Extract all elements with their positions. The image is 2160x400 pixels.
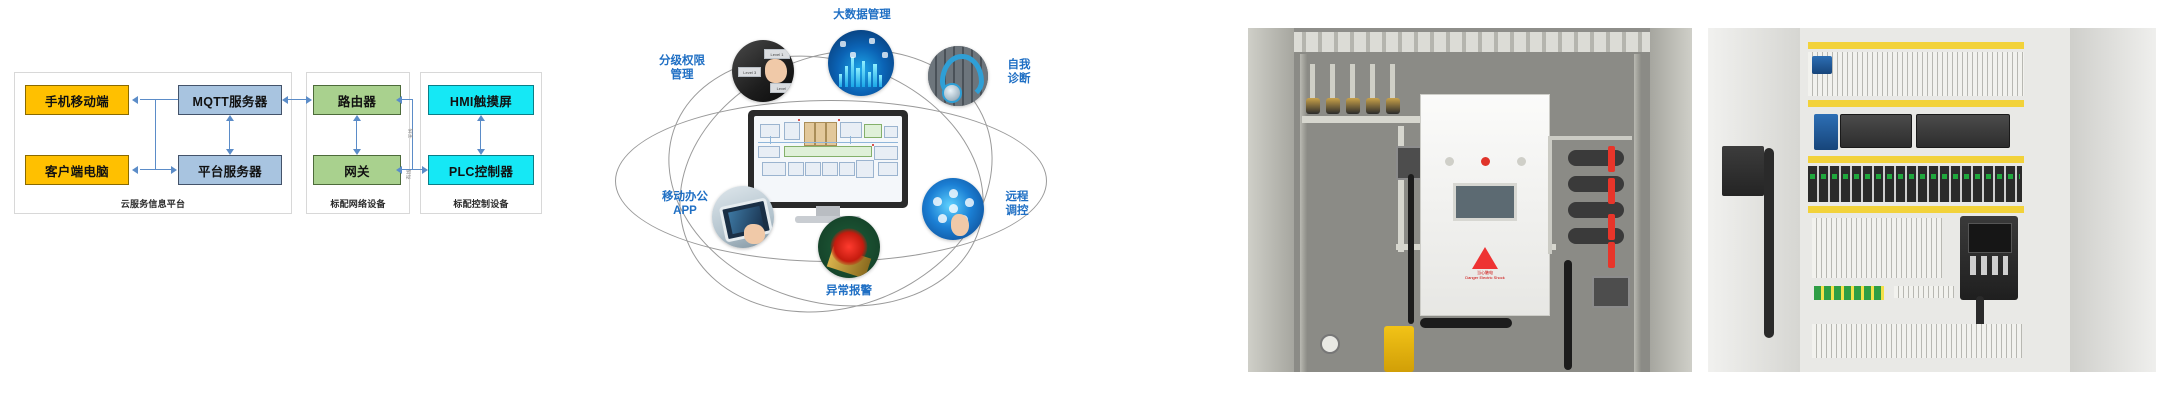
arrow-pc-in bbox=[132, 166, 138, 174]
wire-duct-top bbox=[1808, 42, 2024, 49]
arrow-gateway-side-in bbox=[396, 166, 402, 174]
wire-duct-4 bbox=[1808, 206, 2024, 213]
node-client-pc[interactable]: 客户端电脑 bbox=[25, 155, 129, 185]
stethoscope-diaphragm bbox=[942, 83, 962, 103]
node-mobile-terminal[interactable]: 手机移动端 bbox=[25, 85, 129, 115]
link-router-gateway bbox=[356, 120, 357, 150]
manifold-valves bbox=[1306, 64, 1416, 120]
pipe-elbow-1 bbox=[1568, 150, 1624, 166]
vertical-pipe bbox=[1398, 126, 1404, 252]
label-wired-link: 有线 bbox=[406, 169, 413, 179]
arrow-platform-down bbox=[226, 149, 234, 155]
cabinet2-door-left bbox=[1708, 28, 1800, 372]
alarm-beacon-icon[interactable] bbox=[818, 216, 880, 278]
label-mobile-office: 移动办公 APP bbox=[648, 190, 722, 219]
indicator-white-left bbox=[1445, 157, 1454, 166]
arrow-router-side-in bbox=[396, 96, 402, 104]
node-platform-server[interactable]: 平台服务器 bbox=[178, 155, 282, 185]
link-bus-to-platform bbox=[155, 169, 171, 170]
cabinet-top-louver bbox=[1290, 32, 1650, 54]
arrow-router-up bbox=[353, 115, 361, 121]
valve-handle-3[interactable] bbox=[1608, 214, 1615, 240]
bigdata-bars bbox=[837, 52, 885, 86]
plc-power-supply bbox=[1814, 114, 1838, 150]
arrow-platform-in bbox=[171, 166, 177, 174]
group-caption-control: 标配控制设备 bbox=[421, 197, 541, 210]
valve-handle-1[interactable] bbox=[1608, 146, 1615, 172]
arrow-plc-in bbox=[422, 166, 428, 174]
arrow-plc-down bbox=[477, 149, 485, 155]
label-bigdata: 大数据管理 bbox=[800, 8, 924, 22]
monitor-bezel bbox=[748, 110, 908, 208]
frame-top bbox=[1548, 136, 1632, 140]
link-bus-to-pc bbox=[140, 169, 156, 170]
photo-equipment-cabinet: 当心触电 Danger Electric Shock bbox=[1248, 28, 1692, 372]
sensor-transmitter bbox=[1592, 276, 1630, 308]
pressure-gauge bbox=[1320, 334, 1340, 354]
label-remote-control: 远程 调控 bbox=[990, 190, 1044, 219]
valve-handle-4[interactable] bbox=[1608, 242, 1615, 268]
terminal-block-row-3 bbox=[1812, 324, 2022, 358]
arrow-mqtt-in bbox=[282, 96, 288, 104]
link-mqtt-to-mobile bbox=[140, 99, 178, 100]
platform-capabilities-infographic: 大数据管理 自我 诊断 远程 调控 异常报警 bbox=[560, 0, 1180, 400]
arrow-router-in bbox=[306, 96, 312, 104]
meter-cable bbox=[1408, 174, 1414, 324]
relay-status-leds bbox=[1810, 174, 2020, 179]
wire-duct-3 bbox=[1808, 156, 2024, 163]
node-plc-controller[interactable]: PLC控制器 bbox=[428, 155, 534, 185]
group-caption-cloud: 云服务信息平台 bbox=[15, 197, 291, 210]
link-hmi-plc bbox=[480, 120, 481, 150]
cabinet-door-right bbox=[1650, 28, 1692, 372]
manifold-header-pipe bbox=[1302, 116, 1422, 123]
plc-io-module bbox=[1916, 114, 2010, 148]
monitor-screen bbox=[754, 116, 902, 202]
arrow-mobile-in bbox=[132, 96, 138, 104]
stethoscope-keyboard-icon[interactable] bbox=[928, 46, 988, 106]
vfd-display bbox=[1968, 223, 2012, 254]
vfd-keypad[interactable] bbox=[1970, 256, 2007, 274]
photo-control-cabinet bbox=[1708, 28, 2156, 372]
electric-shock-warning-icon bbox=[1472, 247, 1498, 269]
node-gateway[interactable]: 网关 bbox=[313, 155, 401, 185]
power-cable bbox=[1420, 318, 1512, 328]
level-3-chip: Level 3 bbox=[738, 67, 761, 77]
yellow-container bbox=[1384, 326, 1414, 372]
network-architecture-diagram: 云服务信息平台 标配网络设备 标配控制设备 手机移动端 客户端电脑 MQTT服务… bbox=[14, 72, 542, 214]
label-permission-management: 分级权限 管理 bbox=[638, 54, 726, 83]
arrow-hmi-up bbox=[477, 115, 485, 121]
label-alarm: 异常报警 bbox=[794, 284, 904, 298]
cabinet2-door-right bbox=[2070, 28, 2156, 372]
level-1-chip: Level 1 bbox=[764, 49, 790, 60]
door-wire-loom bbox=[1764, 148, 1774, 338]
node-router[interactable]: 路由器 bbox=[313, 85, 401, 115]
pipe-elbow-2 bbox=[1568, 176, 1624, 192]
network-touch-icon[interactable] bbox=[922, 178, 984, 240]
node-hmi-touch-panel[interactable]: HMI触摸屏 bbox=[428, 85, 534, 115]
pipe-elbow-4 bbox=[1568, 228, 1624, 244]
pointing-hand bbox=[951, 214, 970, 236]
pipe-elbow-3 bbox=[1568, 202, 1624, 218]
label-self-diagnosis: 自我 诊断 bbox=[992, 58, 1046, 87]
warning-sublabel: Danger Electric Shock bbox=[1465, 275, 1505, 280]
door-mounted-drive bbox=[1722, 146, 1764, 196]
plc-cpu-module bbox=[1840, 114, 1912, 148]
wire-duct-2 bbox=[1808, 100, 2024, 107]
terminal-block-row-1 bbox=[1808, 52, 2024, 96]
vfd-inverter[interactable] bbox=[1960, 216, 2018, 300]
breaker-block bbox=[1812, 56, 1832, 74]
relay-row bbox=[1808, 166, 2022, 202]
link-bus-vertical bbox=[155, 99, 156, 170]
arrow-mqtt-up bbox=[226, 115, 234, 121]
terminal-strip-small bbox=[1894, 286, 1954, 298]
drain-pipe bbox=[1564, 260, 1572, 370]
label-wireless-link: 无线 bbox=[408, 128, 415, 138]
tablet-hand bbox=[744, 224, 765, 244]
warning-text: 当心触电 Danger Electric Shock bbox=[1465, 271, 1505, 281]
terminal-block-row-2 bbox=[1812, 218, 1942, 278]
indicator-white-right bbox=[1517, 157, 1526, 166]
node-mqtt-server[interactable]: MQTT服务器 bbox=[178, 85, 282, 115]
panel-display bbox=[1453, 183, 1517, 221]
valve-handle-2[interactable] bbox=[1608, 178, 1615, 204]
level-chip: Level bbox=[770, 83, 792, 93]
control-panel-enclosure: 当心触电 Danger Electric Shock bbox=[1420, 94, 1550, 316]
indicator-red bbox=[1481, 157, 1490, 166]
arrow-gateway-down bbox=[353, 149, 361, 155]
link-mqtt-platform bbox=[229, 120, 230, 150]
level-access-icon[interactable]: Level 1 Level 3 Level bbox=[732, 40, 794, 102]
bigdata-chart-icon[interactable] bbox=[828, 30, 894, 96]
selecting-hand bbox=[765, 59, 786, 84]
door-rail-right bbox=[1634, 54, 1641, 372]
page-canvas: 云服务信息平台 标配网络设备 标配控制设备 手机移动端 客户端电脑 MQTT服务… bbox=[0, 0, 2160, 400]
ground-terminal-strip bbox=[1814, 286, 1884, 300]
group-caption-network: 标配网络设备 bbox=[307, 197, 409, 210]
link-router-side bbox=[402, 99, 412, 100]
cabinet-door-left bbox=[1248, 28, 1294, 372]
frame-left bbox=[1548, 136, 1552, 254]
